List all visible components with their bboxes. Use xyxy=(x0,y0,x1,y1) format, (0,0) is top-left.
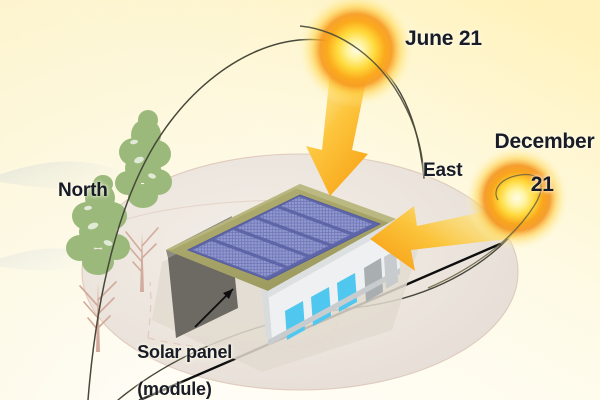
label-north: North xyxy=(58,181,108,200)
label-east: East xyxy=(423,161,462,180)
label-solar-line1: Solar panel xyxy=(137,342,232,362)
label-solar-panel: Solar panel (module) xyxy=(118,325,232,400)
label-december-21: December 21 xyxy=(472,110,590,217)
label-solar-line2: (module) xyxy=(137,379,211,399)
label-june-21: June 21 xyxy=(405,28,482,49)
solar-path-diagram: June 21 December 21 East North Solar pan… xyxy=(0,0,600,400)
label-december-line1: December xyxy=(495,130,595,153)
label-december-line2: 21 xyxy=(531,173,554,196)
